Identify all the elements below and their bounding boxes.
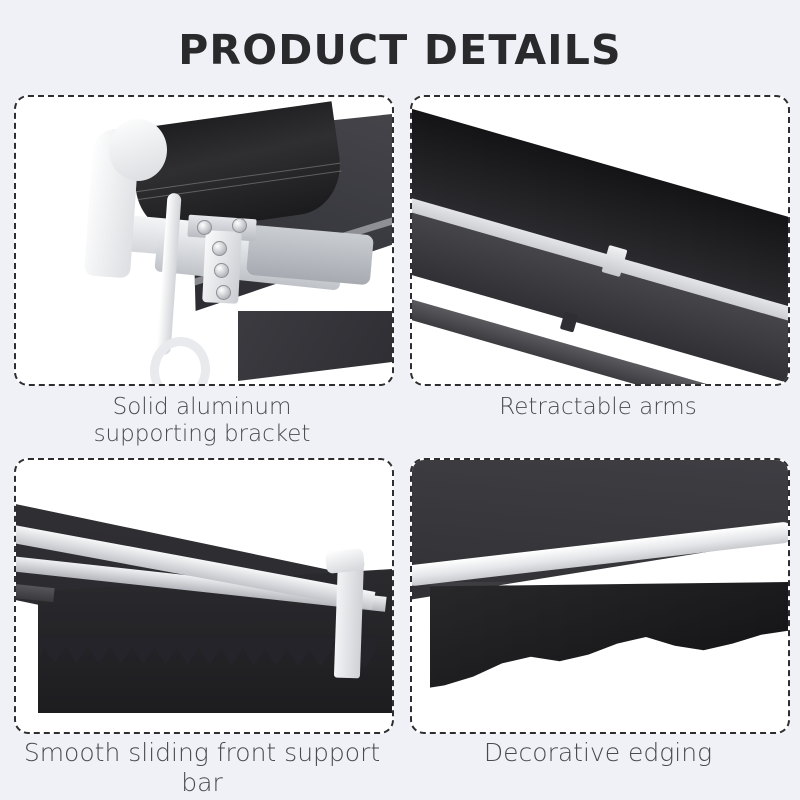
bolt-icon xyxy=(232,218,247,233)
bolt-icon xyxy=(216,285,231,300)
bolt-icon xyxy=(212,241,227,256)
panel-smooth-sliding-front-support-bar xyxy=(14,458,394,734)
retractable-arms-scene xyxy=(412,97,788,384)
bracket-arm-secondary xyxy=(246,225,374,286)
panel-decorative-edging xyxy=(410,458,790,734)
product-details-infographic: PRODUCT DETAILS Solid xyxy=(0,0,800,800)
caption-line-1: Solid aluminum xyxy=(14,394,390,421)
caption-retractable-arms: Retractable arms xyxy=(410,394,786,421)
caption-decorative-edging: Decorative edging xyxy=(410,738,786,768)
panel-retractable-arms xyxy=(410,95,790,386)
caption-solid-aluminum-supporting-bracket: Solid aluminum supporting bracket xyxy=(14,394,390,448)
page-title: PRODUCT DETAILS xyxy=(0,26,800,74)
wall-shadow xyxy=(238,311,394,381)
panel-solid-aluminum-supporting-bracket xyxy=(14,95,394,386)
caption-line-1: Smooth sliding front support bar xyxy=(8,738,396,797)
caption-line-1: Decorative edging xyxy=(410,738,786,768)
caption-line-2: supporting bracket xyxy=(14,421,390,448)
bar-end-cap xyxy=(334,556,364,679)
valance-sheen xyxy=(430,582,790,692)
bar-end-tip xyxy=(325,548,365,574)
front-support-bar-scene xyxy=(16,460,392,732)
caption-smooth-sliding-front-support-bar: Smooth sliding front support bar xyxy=(8,738,396,797)
decorative-edging-scene xyxy=(412,460,788,732)
roller-seam-icon xyxy=(136,163,340,193)
bracket-end-cap-top xyxy=(109,119,167,181)
caption-line-1: Retractable arms xyxy=(410,394,786,421)
bolt-icon xyxy=(197,220,212,235)
bolt-icon xyxy=(214,263,229,278)
bracket-scene xyxy=(16,97,392,384)
